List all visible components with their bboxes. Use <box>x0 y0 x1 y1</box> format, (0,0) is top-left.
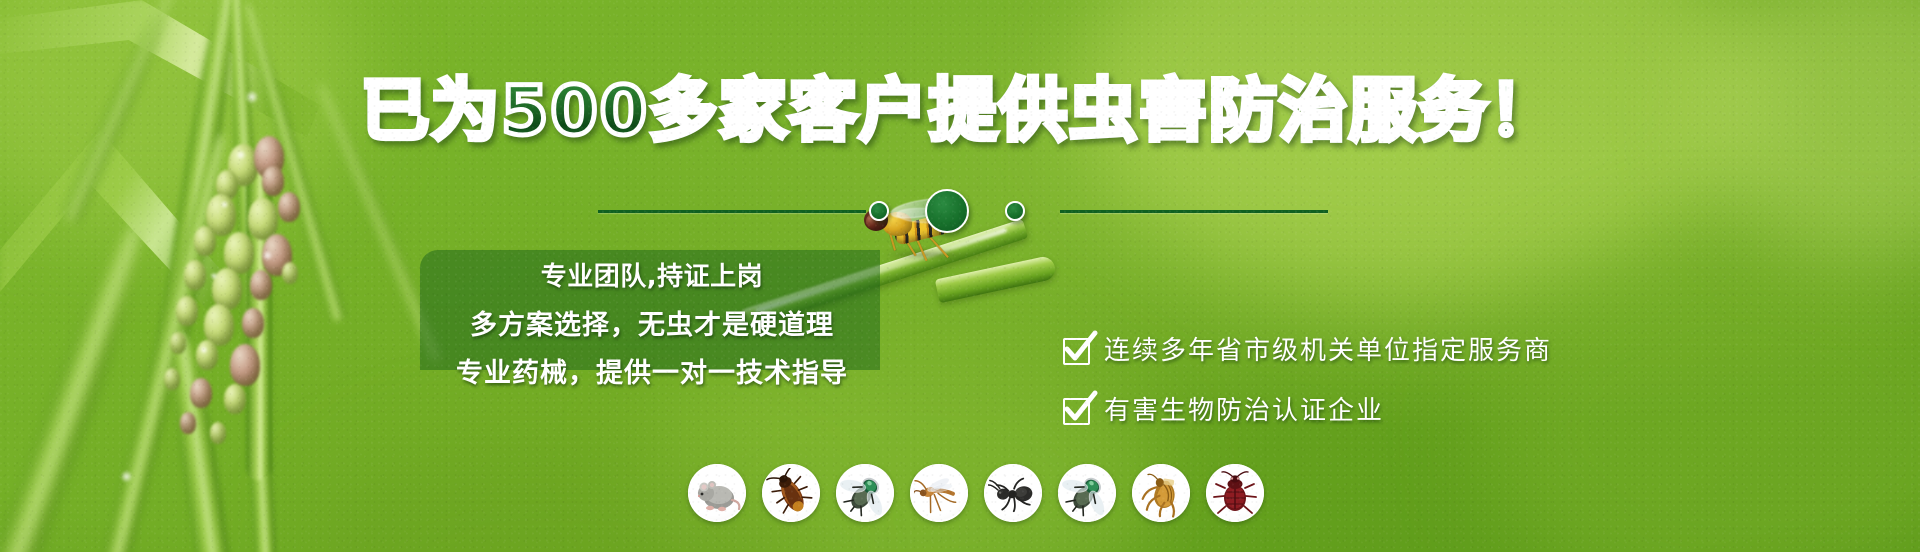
credentials-checklist: 连续多年省市级机关单位指定服务商 有害生物防治认证企业 <box>1063 330 1552 450</box>
pest-icon-flea[interactable] <box>1132 464 1190 522</box>
checklist-item: 有害生物防治认证企业 <box>1063 390 1552 432</box>
pest-icon-bedbug[interactable] <box>1206 464 1264 522</box>
leaf-tip-icon <box>935 255 1057 303</box>
pest-icon-fly[interactable] <box>836 464 894 522</box>
mouse-icon <box>692 468 742 518</box>
checklist-item-label: 有害生物防治认证企业 <box>1104 398 1384 424</box>
banner-headline: 已为500多家客户提供虫害防治服务！ <box>0 78 1920 146</box>
headline-container: 已为500多家客户提供虫害防治服务！ <box>0 0 1920 110</box>
checklist-item-label: 连续多年省市级机关单位指定服务商 <box>1104 338 1552 364</box>
bedbug-icon <box>1210 468 1260 518</box>
checklist-item: 连续多年省市级机关单位指定服务商 <box>1063 330 1552 372</box>
decorative-divider <box>0 190 1920 232</box>
grass-blade-icon <box>0 217 156 552</box>
divider-rule-right <box>1060 210 1328 213</box>
pest-control-hero-banner: 已为500多家客户提供虫害防治服务！ 专业团队,持证上岗 多方案选择，无虫才是硬… <box>0 0 1920 552</box>
cockroach-icon <box>766 468 816 518</box>
selling-points-text: 专业团队,持证上岗 多方案选择，无虫才是硬道理 专业药械，提供一对一技术指导 <box>352 262 952 372</box>
decorative-dot-large <box>925 189 969 233</box>
flea-icon <box>1136 468 1186 518</box>
grass-blade-icon <box>164 330 234 552</box>
pest-icon-fly[interactable] <box>1058 464 1116 522</box>
pest-icon-mosquito[interactable] <box>910 464 968 522</box>
decorative-dot-small <box>869 201 889 221</box>
mosquito-icon <box>914 468 964 518</box>
pest-type-icon-row <box>688 464 1264 522</box>
selling-point-line-1: 专业团队,持证上岗 <box>352 262 952 290</box>
selling-point-line-2: 多方案选择，无虫才是硬道理 <box>352 290 952 339</box>
checkbox-checked-icon <box>1063 398 1090 425</box>
pest-icon-mouse[interactable] <box>688 464 746 522</box>
decorative-dot-small <box>1005 201 1025 221</box>
pest-icon-ant[interactable] <box>984 464 1042 522</box>
ant-icon <box>988 468 1038 518</box>
pest-icon-cockroach[interactable] <box>762 464 820 522</box>
fly-icon <box>840 468 890 518</box>
checkbox-checked-icon <box>1063 338 1090 365</box>
divider-rule-left <box>598 210 866 213</box>
fly-icon <box>1062 468 1112 518</box>
selling-point-line-3: 专业药械，提供一对一技术指导 <box>352 339 952 387</box>
